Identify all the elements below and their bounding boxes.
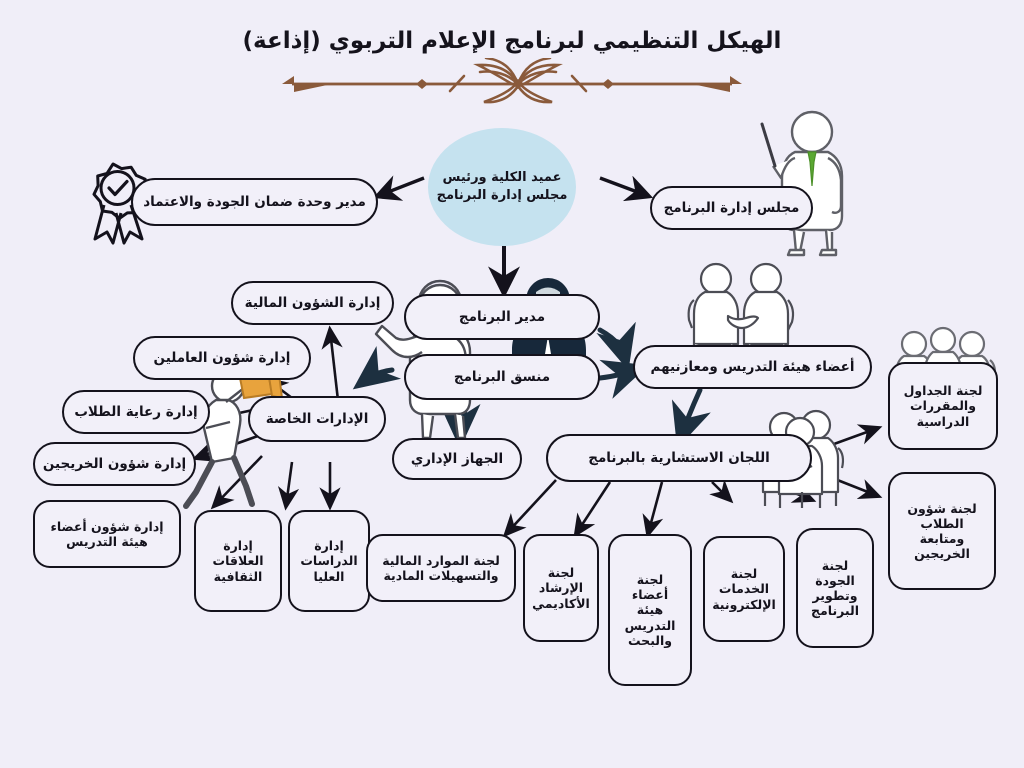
node-program-coordinator[interactable]: منسق البرنامج [404,354,600,400]
node-label: إدارة الشؤون المالية [245,295,381,311]
node-label: منسق البرنامج [454,369,550,385]
node-committee-faculty-research[interactable]: لجنة أعضاء هيئة التدريس والبحث [608,534,692,686]
node-label: مدير البرنامج [459,309,545,325]
node-label: إدارة العلاقات الثقافية [203,538,273,584]
node-label: مدير وحدة ضمان الجودة والاعتماد [143,194,366,210]
node-label: اللجان الاستشارية بالبرنامج [588,450,770,466]
node-committee-academic-advising[interactable]: لجنة الإرشاد الأكاديمي [523,534,599,642]
node-graduate-studies[interactable]: إدارة الدراسات العليا [288,510,370,612]
node-label: لجنة الخدمات الإلكترونية [712,566,776,612]
node-committee-quality[interactable]: لجنة الجودة وتطوير البرنامج [796,528,874,648]
node-alumni-affairs[interactable]: إدارة شؤون الخريجين [33,442,196,486]
node-label: إدارة شؤون أعضاء هيئة التدريس [42,519,172,550]
node-label: إدارة رعاية الطلاب [74,404,197,420]
node-committee-students-alumni[interactable]: لجنة شؤون الطلاب ومتابعة الخريجين [888,472,996,590]
node-committee-eservices[interactable]: لجنة الخدمات الإلكترونية [703,536,785,642]
node-advisory-committees[interactable]: اللجان الاستشارية بالبرنامج [546,434,812,482]
node-label: لجنة الجداول والمقررات الدراسية [897,383,989,429]
node-cultural-relations[interactable]: إدارة العلاقات الثقافية [194,510,282,612]
node-faculty-affairs[interactable]: إدارة شؤون أعضاء هيئة التدريس [33,500,181,568]
node-faculty-members[interactable]: أعضاء هيئة التدريس ومعازنيهم [633,345,872,389]
node-label: إدارة شؤون العاملين [154,350,291,366]
title-block: الهيكل التنظيمي لبرنامج الإعلام التربوي … [0,28,1024,104]
node-label: لجنة الموارد المالية والتسهيلات المادية [375,553,507,584]
node-special-administrations[interactable]: الإدارات الخاصة [248,396,386,442]
node-quality-unit-director[interactable]: مدير وحدة ضمان الجودة والاعتماد [131,178,378,226]
node-label: لجنة الإرشاد الأكاديمي [532,565,590,611]
node-label: لجنة أعضاء هيئة التدريس والبحث [617,572,683,648]
node-label: الإدارات الخاصة [266,411,369,427]
node-label: إدارة شؤون الخريجين [43,456,186,472]
node-label: إدارة الدراسات العليا [297,538,361,584]
node-student-care[interactable]: إدارة رعاية الطلاب [62,390,210,434]
node-committee-finance[interactable]: لجنة الموارد المالية والتسهيلات المادية [366,534,516,602]
node-program-board[interactable]: مجلس إدارة البرنامج [650,186,813,230]
node-label: مجلس إدارة البرنامج [664,200,800,216]
node-label: الجهاز الإداري [411,451,503,467]
diagram-canvas: الهيكل التنظيمي لبرنامج الإعلام التربوي … [0,0,1024,768]
node-staff-affairs[interactable]: إدارة شؤون العاملين [133,336,311,380]
node-label: لجنة الجودة وتطوير البرنامج [805,558,865,619]
node-program-director[interactable]: مدير البرنامج [404,294,600,340]
node-layer: مدير وحدة ضمان الجودة والاعتماد مجلس إدا… [0,0,1024,768]
node-financial-affairs[interactable]: إدارة الشؤون المالية [231,281,394,325]
node-label: أعضاء هيئة التدريس ومعازنيهم [651,359,855,375]
node-label: لجنة شؤون الطلاب ومتابعة الخريجين [897,501,987,562]
ornament-divider [272,58,752,104]
node-admin-apparatus[interactable]: الجهاز الإداري [392,438,522,480]
page-title: الهيكل التنظيمي لبرنامج الإعلام التربوي … [0,28,1024,56]
node-committee-schedules[interactable]: لجنة الجداول والمقررات الدراسية [888,362,998,450]
